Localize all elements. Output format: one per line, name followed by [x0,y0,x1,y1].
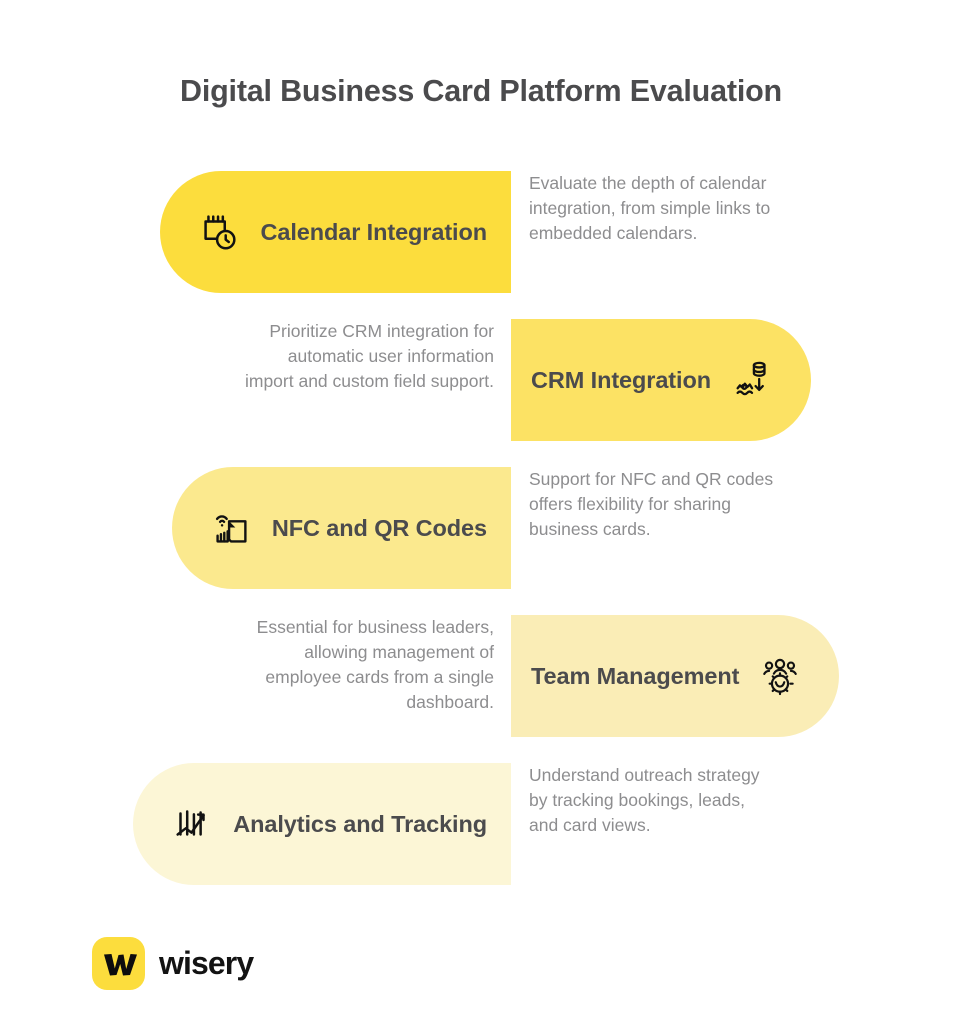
database-import-gear-icon [729,357,775,403]
feature-pill-nfc-and-qr-codes[interactable]: NFC and QR Codes [172,467,511,589]
team-gear-icon [757,653,803,699]
analytics-trend-icon [169,801,215,847]
nfc-card-tap-icon [208,505,254,551]
brand-logo[interactable]: wisery [92,937,253,990]
feature-description: Understand outreach strategy by tracking… [529,763,779,838]
feature-row: Essential for business leaders, allowing… [0,615,962,737]
page-title: Digital Business Card Platform Evaluatio… [0,74,962,109]
feature-row: NFC and QR Codes Support for NFC and QR … [0,467,962,589]
wisery-logo-mark-icon [92,937,145,990]
feature-pill-analytics-and-tracking[interactable]: Analytics and Tracking [133,763,511,885]
infographic-page: Digital Business Card Platform Evaluatio… [0,0,962,1024]
feature-description: Essential for business leaders, allowing… [238,615,494,714]
feature-row: Prioritize CRM integration for automatic… [0,319,962,441]
feature-label: Team Management [531,663,739,690]
feature-label: Calendar Integration [260,219,487,246]
feature-pill-team-management[interactable]: Team Management [511,615,839,737]
feature-description: Support for NFC and QR codes offers flex… [529,467,779,542]
calendar-clock-icon [196,209,242,255]
feature-row: Analytics and Tracking Understand outrea… [0,763,962,885]
feature-label: NFC and QR Codes [272,515,487,542]
feature-pill-crm-integration[interactable]: CRM Integration [511,319,811,441]
feature-description: Prioritize CRM integration for automatic… [238,319,494,394]
feature-label: Analytics and Tracking [233,811,487,838]
feature-row: Calendar Integration Evaluate the depth … [0,171,962,293]
brand-name: wisery [159,945,253,982]
feature-description: Evaluate the depth of calendar integrati… [529,171,779,246]
feature-pill-calendar-integration[interactable]: Calendar Integration [160,171,511,293]
feature-label: CRM Integration [531,367,711,394]
